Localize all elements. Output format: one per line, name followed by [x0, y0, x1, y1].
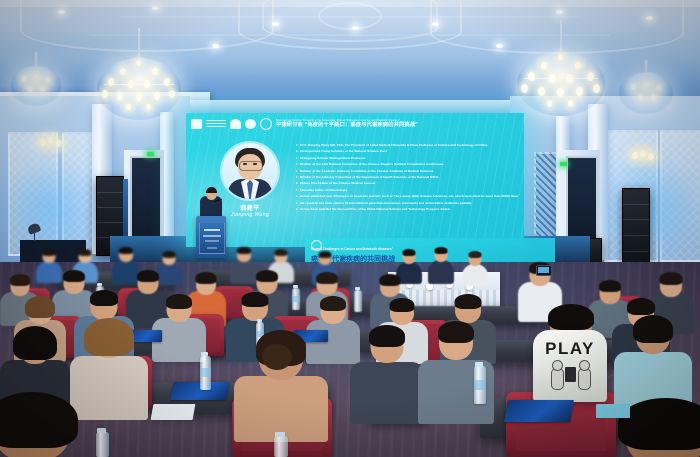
tshirt-text: PLAY [533, 339, 607, 359]
university-logo-icon [230, 119, 241, 129]
screen-title-english: Sino-German Seminar "Immunity at the Cro… [276, 119, 418, 122]
bullet-marker-icon: ▸ [296, 188, 298, 192]
list-item: ▸Prof. Jianping Weng MD, PhD, The Presid… [296, 143, 518, 147]
wall-sconce-left [38, 136, 64, 158]
bio-line: He has been awarded the Second Prize of … [300, 207, 451, 211]
bullet-marker-icon: ▸ [296, 143, 298, 147]
hair-bun [262, 344, 292, 370]
list-item: ▸Member of the Advisory Committee of the… [296, 175, 518, 179]
attendee-foreground-left [0, 392, 78, 457]
paper-notes[interactable] [151, 404, 196, 420]
bottle-label [474, 380, 486, 390]
bullet-marker-icon: ▸ [296, 175, 298, 179]
bio-line: His research has been cited in 15 intern… [300, 201, 473, 205]
attendee-play-shirt: PLAY [533, 330, 607, 402]
chandelier-right-main [516, 20, 606, 120]
speaker-bio-bullets: ▸Prof. Jianping Weng MD, PhD, The Presid… [296, 143, 518, 213]
exit-sign-right [560, 162, 567, 166]
chandelier-left-far [10, 52, 62, 108]
list-item: ▸Executive Editor of Diabetologia. [296, 188, 518, 192]
attendee-row4-4 [350, 328, 424, 420]
list-item: ▸Deputy Chief Editor of the Chinese Medi… [296, 181, 518, 185]
screen-header: Sino-German Seminar "Immunity at the Cro… [186, 117, 524, 130]
bullet-marker-icon: ▸ [296, 149, 298, 153]
crown-moulding-center [190, 100, 510, 114]
bullet-marker-icon: ▸ [296, 162, 298, 166]
speaker-name-chinese: 翁建平 [222, 203, 278, 212]
bullet-marker-icon: ▸ [296, 201, 298, 205]
line-array-speaker-right [622, 188, 650, 270]
bottle-label [200, 368, 211, 377]
lectern-branding-panel [199, 222, 225, 254]
wall-sconce-right [630, 150, 656, 172]
list-item: ▸Changjiang Scholar Distinguished Profes… [296, 156, 518, 160]
attendee-row4-2 [70, 322, 148, 414]
chandelier-right-far [618, 60, 674, 118]
paper-notes[interactable] [596, 404, 630, 418]
smartphone-camera[interactable] [536, 265, 552, 276]
clock-logo-icon [260, 118, 272, 130]
bio-line: He has published over 300 papers in acad… [300, 194, 518, 198]
head-table-attendee-3 [462, 252, 488, 284]
head-table-attendee-2 [428, 248, 454, 282]
bottle-cap [201, 352, 208, 356]
bullet-marker-icon: ▸ [296, 181, 298, 185]
organization-logo-2-icon [206, 120, 226, 128]
attendee-row4-3 [234, 330, 328, 430]
bio-line: Member of the Advisory Committee of the … [300, 175, 440, 179]
institute-logo-icon [245, 119, 256, 129]
attendee-row3-3 [152, 296, 206, 358]
bio-line: Executive Editor of Diabetologia. [300, 188, 348, 192]
list-item: ▸His research has been cited in 15 inter… [296, 201, 518, 205]
bio-line: Prof. Jianping Weng MD, PhD, The Preside… [300, 143, 488, 147]
program-folder[interactable] [504, 400, 574, 422]
lectern [196, 216, 226, 258]
water-bottle[interactable] [96, 432, 109, 457]
bottle-cap [475, 362, 483, 367]
presenter-hair [206, 187, 217, 193]
attendee-row4-6 [614, 318, 692, 410]
list-item: ▸Member of the Academic Advisory Committ… [296, 169, 518, 173]
list-item: ▸Distinguished Young Scholars of the Nat… [296, 149, 518, 153]
bullet-marker-icon: ▸ [296, 169, 298, 173]
bottle-cap [257, 319, 262, 322]
exit-sign-left [147, 152, 154, 156]
bio-line: Changjiang Scholar Distinguished Profess… [300, 156, 366, 160]
bottle-cap [97, 283, 102, 286]
bio-line: Distinguished Young Scholars of the Nati… [300, 149, 388, 153]
bio-line: Member of the Academic Advisory Committe… [300, 169, 434, 173]
organization-logo-1-icon [191, 119, 202, 129]
bottle-cap [275, 432, 285, 437]
bullet-marker-icon: ▸ [296, 156, 298, 160]
led-presentation-screen: Sino-German Seminar "Immunity at the Cro… [186, 113, 524, 247]
list-item: ▸Member of the 14th National Committee o… [296, 162, 518, 166]
bullet-marker-icon: ▸ [296, 207, 298, 211]
speaker-portrait [222, 143, 278, 199]
chandelier-left-main [96, 28, 182, 124]
bottle-label [292, 296, 300, 302]
tshirt-graphic-icon [551, 360, 589, 390]
bio-line: Deputy Chief Editor of the Chinese Medic… [300, 181, 376, 185]
bottle-cap [355, 287, 360, 290]
attendee-foreground-right [618, 398, 700, 457]
list-item: ▸He has been awarded the Second Prize of… [296, 207, 518, 211]
bio-line: Member of the 14th National Committee of… [300, 162, 444, 166]
bottle-cap [293, 285, 298, 288]
list-item: ▸He has published over 300 papers in aca… [296, 194, 518, 198]
bottle-cap [97, 428, 106, 433]
water-bottle[interactable] [274, 436, 288, 457]
conference-photo: Sino-German Seminar "Immunity at the Cro… [0, 0, 700, 457]
screen-title-chinese: 中德研讨会 “免疫的十字路口：癌症与代谢疾病的共同挑战” [276, 122, 418, 128]
bullet-marker-icon: ▸ [296, 194, 298, 198]
